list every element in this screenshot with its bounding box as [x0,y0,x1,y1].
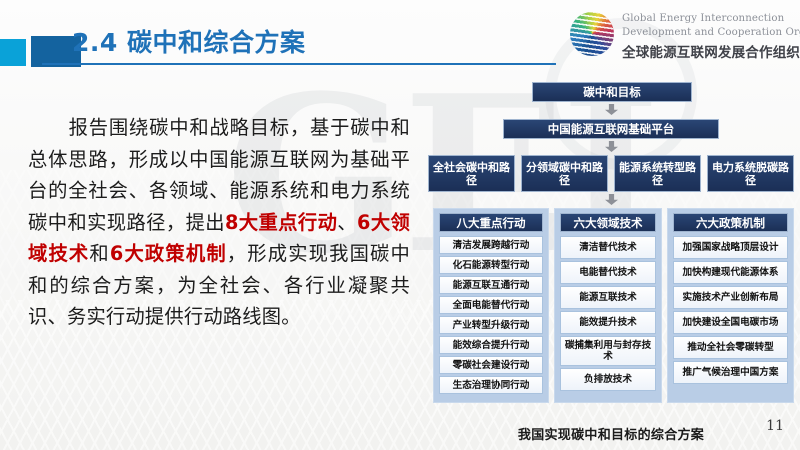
globe-icon [570,12,614,56]
highlight-six-policies: 6大政策机制 [110,242,227,265]
list-item: 碳捕集利用与封存技术 [560,336,656,366]
paragraph-segment-2: 、 [337,211,357,234]
list-item: 负排放技术 [560,368,656,391]
list-item: 电能替代技术 [560,261,656,284]
logo-english-line2: Development and Cooperation Organization [622,27,800,38]
diagram-platform-box: 中国能源互联网基础平台 [503,119,719,139]
organization-logo: Global Energy Interconnection Developmen… [570,8,794,62]
column-field-technologies: 六大领域技术 清洁替代技术 电能替代技术 能源互联技术 能效提升技术 碳捕集利用… [554,208,662,403]
path-box-sectors: 分领域碳中和路径 [521,155,608,192]
page-number: 11 [766,418,784,434]
diagram-path-row: 全社会碳中和路径 分领域碳中和路径 能源系统转型路径 电力系统脱碳路径 [428,155,794,192]
list-item: 加快建设全国电碳市场 [673,311,788,334]
list-item: 加快构建现代能源体系 [673,261,788,284]
diagram-caption: 我国实现碳中和目标的综合方案 [428,424,794,443]
path-box-power-system: 电力系统脱碳路径 [707,155,794,192]
highlight-eight-actions: 8大重点行动 [225,211,337,234]
paragraph-segment-3: 和 [89,242,109,265]
column-header-field-technologies: 六大领域技术 [560,213,656,232]
list-item: 能效综合提升行动 [439,336,543,354]
column-items-key-actions: 清洁发展跨越行动 化石能源转型行动 能源互联互通行动 全面电能替代行动 产业转型… [439,236,543,394]
body-paragraph: 报告围绕碳中和战略目标，基于碳中和总体思路，形成以中国能源互联网为基础平台的全社… [28,112,410,333]
list-item: 清洁发展跨越行动 [439,236,543,254]
logo-chinese-name: 全球能源互联网发展合作组织 [622,41,800,61]
path-box-energy-system: 能源系统转型路径 [614,155,701,192]
list-item: 化石能源转型行动 [439,256,543,274]
list-item: 实施技术产业创新布局 [673,286,788,309]
column-items-field-technologies: 清洁替代技术 电能替代技术 能源互联技术 能效提升技术 碳捕集利用与封存技术 负… [560,236,656,391]
page-title: 2.4 碳中和综合方案 [72,23,306,59]
column-items-policy-mechanisms: 加强国家战略顶层设计 加快构建现代能源体系 实施技术产业创新布局 加快建设全国电… [673,236,788,384]
arrow-down-icon [605,194,618,205]
header-underline [42,63,556,65]
slide-canvas: GEI 2.4 碳中和综合方案 Global Energy Interconne… [0,0,800,450]
diagram-columns: 八大重点行动 清洁发展跨越行动 化石能源转型行动 能源互联互通行动 全面电能替代… [428,208,794,410]
list-item: 推广气候治理中国方案 [673,361,788,384]
list-item: 推动全社会零碳转型 [673,336,788,359]
path-box-society: 全社会碳中和路径 [428,155,515,192]
carbon-neutrality-diagram: 碳中和目标 中国能源互联网基础平台 全社会碳中和路径 分领域碳中和路径 能源系统… [428,82,794,410]
list-item: 产业转型升级行动 [439,316,543,334]
list-item: 清洁替代技术 [560,236,656,259]
arrow-down-icon [605,141,618,152]
arrow-down-icon [605,104,618,115]
list-item: 零碳社会建设行动 [439,356,543,374]
header-accent-block-cyan [0,39,26,66]
list-item: 能效提升技术 [560,311,656,334]
column-header-key-actions: 八大重点行动 [439,213,543,232]
list-item: 加强国家战略顶层设计 [673,236,788,259]
logo-english-line1: Global Energy Interconnection [622,13,784,24]
list-item: 能源互联技术 [560,286,656,309]
column-header-policy-mechanisms: 六大政策机制 [673,213,788,232]
column-key-actions: 八大重点行动 清洁发展跨越行动 化石能源转型行动 能源互联互通行动 全面电能替代… [433,208,549,403]
list-item: 全面电能替代行动 [439,296,543,314]
slide-header: 2.4 碳中和综合方案 Global Energy Interconnectio… [0,0,800,74]
list-item: 生态治理协同行动 [439,376,543,394]
diagram-goal-box: 碳中和目标 [532,82,692,102]
column-policy-mechanisms: 六大政策机制 加强国家战略顶层设计 加快构建现代能源体系 实施技术产业创新布局 … [667,208,794,403]
list-item: 能源互联互通行动 [439,276,543,294]
